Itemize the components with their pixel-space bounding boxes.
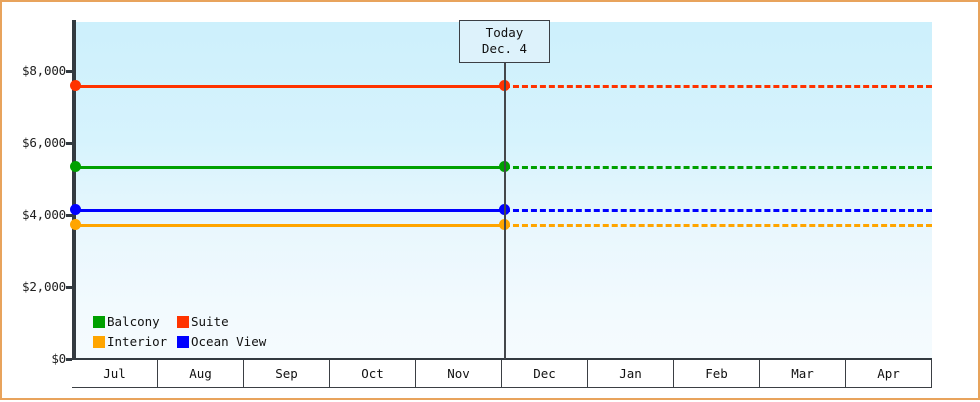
series-line-suite-forecast (504, 85, 932, 88)
price-forecast-chart: $8,000 $6,000 $4,000 $2,000 $0 (2, 2, 980, 402)
y-label-4000-wrap: $4,000 (2, 207, 66, 221)
y-label-8000-wrap: $8,000 (2, 63, 66, 77)
series-line-ocean-view-forecast (504, 209, 932, 212)
y-axis-label: $2,000 (4, 279, 66, 294)
series-line-interior-forecast (504, 224, 932, 227)
series-line-balcony-forecast (504, 166, 932, 169)
y-axis-label: $4,000 (4, 207, 66, 222)
series-marker-interior-start (70, 219, 81, 230)
series-line-suite-actual (75, 85, 504, 88)
x-axis-cell-apr[interactable]: Apr (846, 360, 932, 388)
x-axis-cell-jul[interactable]: Jul (72, 360, 158, 388)
y-tick-8000 (66, 70, 76, 73)
legend-row-2: Interior Ocean View (93, 332, 266, 352)
x-axis-cell-jan[interactable]: Jan (588, 360, 674, 388)
x-axis-cell-dec[interactable]: Dec (502, 360, 588, 388)
legend-row-1: Balcony Suite (93, 312, 266, 332)
today-callout-box: Today Dec. 4 (459, 20, 550, 63)
x-axis-cell-sep[interactable]: Sep (244, 360, 330, 388)
today-callout-line2: Dec. 4 (469, 41, 540, 57)
chart-legend: Balcony Suite Interior Ocean View (93, 312, 266, 352)
y-axis-label: $0 (4, 351, 66, 366)
legend-label-ocean-view: Ocean View (191, 332, 266, 352)
x-axis-cell-mar[interactable]: Mar (760, 360, 846, 388)
legend-label-interior: Interior (107, 332, 167, 352)
legend-item-interior[interactable]: Interior (93, 332, 177, 352)
legend-swatch-suite-icon (177, 316, 189, 328)
today-callout-line1: Today (469, 25, 540, 41)
x-axis-cell-aug[interactable]: Aug (158, 360, 244, 388)
series-line-balcony-actual (75, 166, 504, 169)
y-label-2000-wrap: $2,000 (2, 279, 66, 293)
legend-item-balcony[interactable]: Balcony (93, 312, 177, 332)
y-axis-label: $6,000 (4, 135, 66, 150)
legend-swatch-interior-icon (93, 336, 105, 348)
legend-swatch-balcony-icon (93, 316, 105, 328)
legend-label-balcony: Balcony (107, 312, 160, 332)
y-tick-6000 (66, 142, 76, 145)
series-marker-ocean-view-start (70, 204, 81, 215)
y-label-0-wrap: $0 (2, 351, 66, 365)
chart-frame: $8,000 $6,000 $4,000 $2,000 $0 (0, 0, 980, 400)
legend-swatch-ocean-view-icon (177, 336, 189, 348)
y-axis-label: $8,000 (4, 63, 66, 78)
y-tick-2000 (66, 286, 76, 289)
legend-label-suite: Suite (191, 312, 229, 332)
legend-item-suite[interactable]: Suite (177, 312, 229, 332)
y-label-6000-wrap: $6,000 (2, 135, 66, 149)
legend-item-ocean-view[interactable]: Ocean View (177, 332, 266, 352)
x-axis-month-row: Jul Aug Sep Oct Nov Dec Jan Feb Mar Apr (72, 360, 932, 388)
series-marker-suite-start (70, 80, 81, 91)
x-axis-cell-feb[interactable]: Feb (674, 360, 760, 388)
x-axis-cell-oct[interactable]: Oct (330, 360, 416, 388)
series-line-ocean-view-actual (75, 209, 504, 212)
today-vertical-line (504, 22, 506, 359)
series-marker-balcony-start (70, 161, 81, 172)
x-axis-cell-nov[interactable]: Nov (416, 360, 502, 388)
series-line-interior-actual (75, 224, 504, 227)
